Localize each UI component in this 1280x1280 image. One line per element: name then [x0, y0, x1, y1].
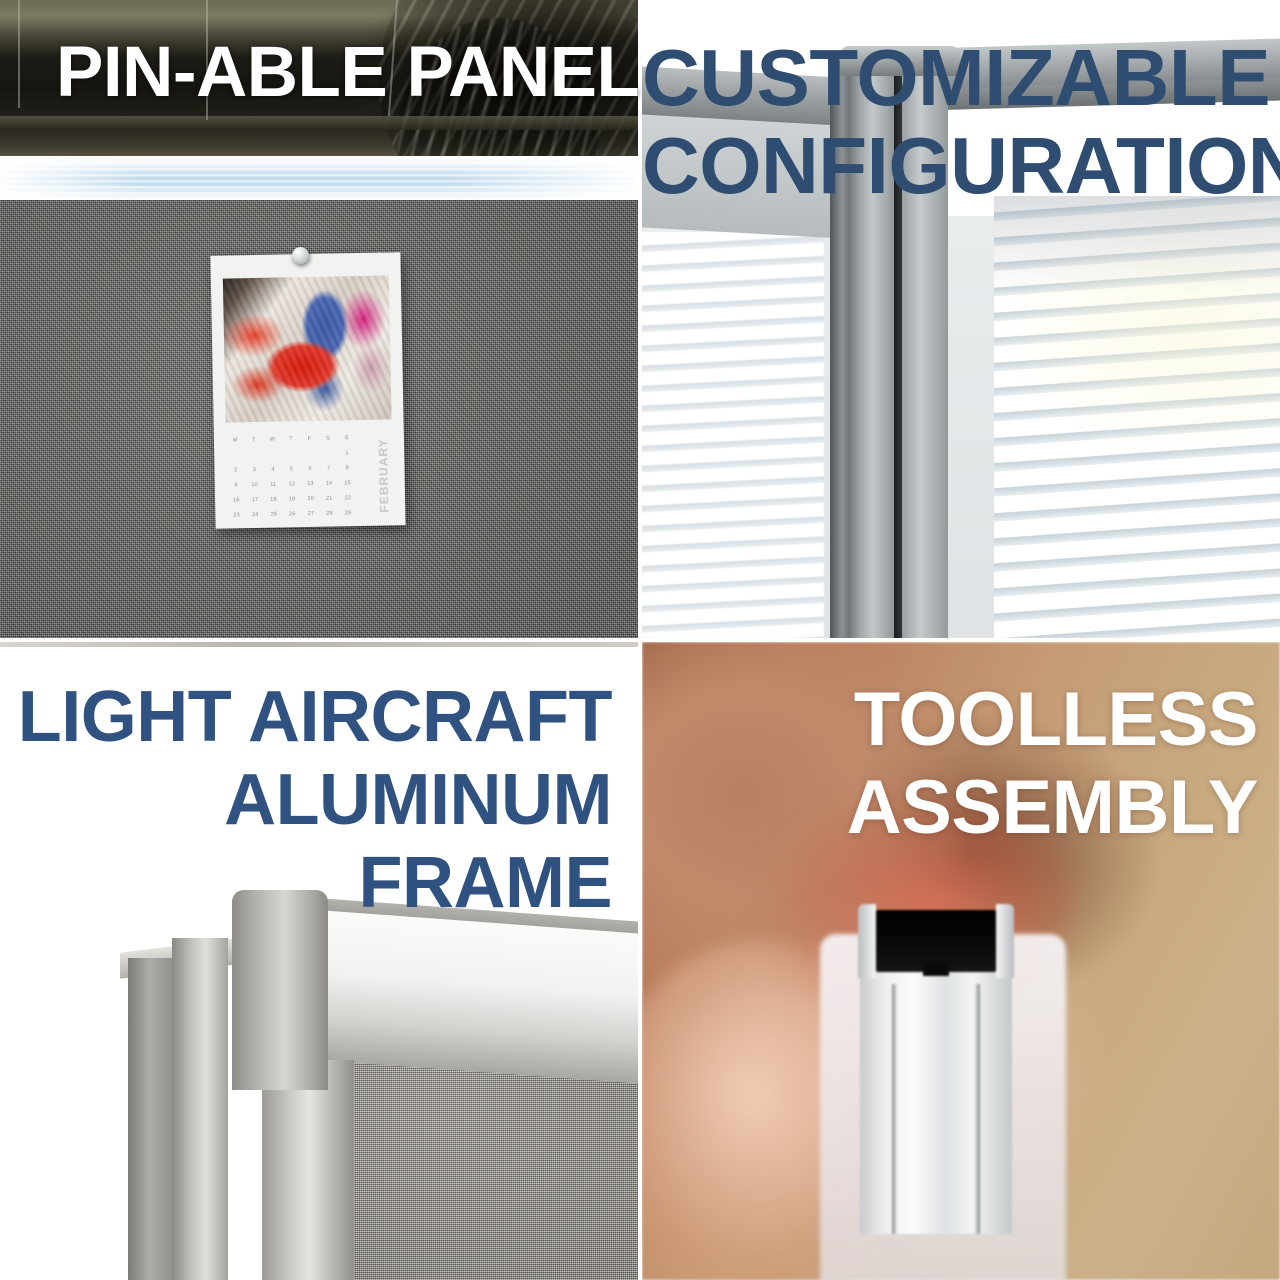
calendar-week-row: 23 24 25 26 27 28 29 [227, 506, 357, 523]
calendar-day: 19 [283, 492, 302, 507]
caption-pin-able-panel: PIN-ABLE PANEL [56, 34, 639, 112]
ceiling-wire [18, 0, 20, 108]
calendar-day: 21 [320, 491, 339, 506]
calendar-weekday: F [300, 432, 319, 447]
calendar-day: 17 [246, 493, 265, 508]
caption-toolless-assembly: TOOLLESSASSEMBLY [642, 676, 1280, 852]
calendar-day: 24 [246, 508, 265, 523]
extrusion-lip-left [858, 904, 876, 978]
calendar-day: 29 [339, 506, 358, 521]
ceiling-beam [0, 116, 638, 130]
caption-line: ASSEMBLY [847, 765, 1258, 850]
calendar-weekday: S [337, 431, 356, 446]
calendar-day: 26 [283, 507, 302, 522]
calendar-weekday: T [282, 432, 301, 447]
aluminum-extrusion [848, 904, 1024, 1234]
extrusion-notch [923, 962, 949, 976]
partition-top-rail [0, 156, 638, 204]
caption-line: CONFIGURATION [642, 121, 1280, 210]
grid-divider-horizontal [0, 638, 1280, 642]
caption-line: ALUMINUM [224, 760, 612, 840]
extrusion-groove-right [975, 984, 980, 1234]
calendar-day: 18 [264, 493, 283, 508]
calendar-day: 13 [301, 477, 320, 492]
calendar-day: 1 [338, 446, 357, 461]
window-blinds-left [642, 232, 824, 638]
extrusion-lip-right [996, 904, 1014, 978]
calendar-day: 12 [282, 477, 301, 492]
calendar-grid: M T W T F S S 1 2 [226, 431, 357, 511]
calendar-weekday: T [244, 433, 263, 448]
push-pin-icon [292, 247, 309, 264]
calendar-day: 6 [301, 462, 320, 477]
caption-line: TOOLLESS [854, 677, 1258, 762]
calendar-day [300, 447, 319, 462]
calendar-day: 5 [282, 462, 301, 477]
calendar-month-label: FEBRUARY [376, 432, 398, 512]
calendar-day: 23 [227, 508, 246, 523]
calendar-day: 25 [264, 508, 283, 523]
frame-post-middle [172, 938, 228, 1280]
calendar-day [263, 448, 282, 463]
calendar-day: 16 [227, 493, 246, 508]
fabric-panel-insert [352, 1050, 638, 1280]
photo-top-edge [0, 642, 638, 647]
calendar-day: 20 [301, 492, 320, 507]
calendar-day: 10 [245, 478, 264, 493]
calendar-day: 15 [338, 476, 357, 491]
calendar-day: 2 [226, 463, 245, 478]
pinned-calendar: M T W T F S S 1 2 [210, 252, 405, 529]
calendar-day: 28 [320, 506, 339, 521]
caption-line: LIGHT AIRCRAFT [18, 677, 612, 757]
calendar-day [226, 448, 245, 463]
calendar-weekday: M [226, 433, 245, 448]
frame-post-front [262, 1060, 354, 1280]
calendar-day: 22 [338, 491, 357, 506]
caption-light-aircraft-aluminum-frame: LIGHT AIRCRAFTALUMINUMFRAME [0, 676, 638, 925]
calendar-day: 8 [338, 461, 357, 476]
calendar-day [319, 446, 338, 461]
caption-line: CUSTOMIZABLE [642, 33, 1270, 122]
window-blinds-right [994, 196, 1280, 638]
calendar-day: 7 [319, 461, 338, 476]
frame-post-rear [128, 958, 176, 1280]
calendar-day: 11 [264, 478, 283, 493]
calendar-weekday: S [319, 431, 338, 446]
calendar-day [282, 447, 301, 462]
calendar-day: 27 [302, 507, 321, 522]
calendar-day [245, 448, 264, 463]
feature-collage: M T W T F S S 1 2 [0, 0, 1280, 1280]
calendar-artwork [223, 275, 392, 422]
calendar-weekday: W [263, 433, 282, 448]
caption-customizable-configuration: CUSTOMIZABLECONFIGURATION [642, 34, 1280, 210]
calendar-day: 9 [227, 478, 246, 493]
extrusion-groove-left [892, 984, 897, 1234]
caption-line: FRAME [359, 843, 612, 923]
calendar-day: 4 [264, 463, 283, 478]
calendar-day: 3 [245, 463, 264, 478]
calendar-day: 14 [320, 476, 339, 491]
